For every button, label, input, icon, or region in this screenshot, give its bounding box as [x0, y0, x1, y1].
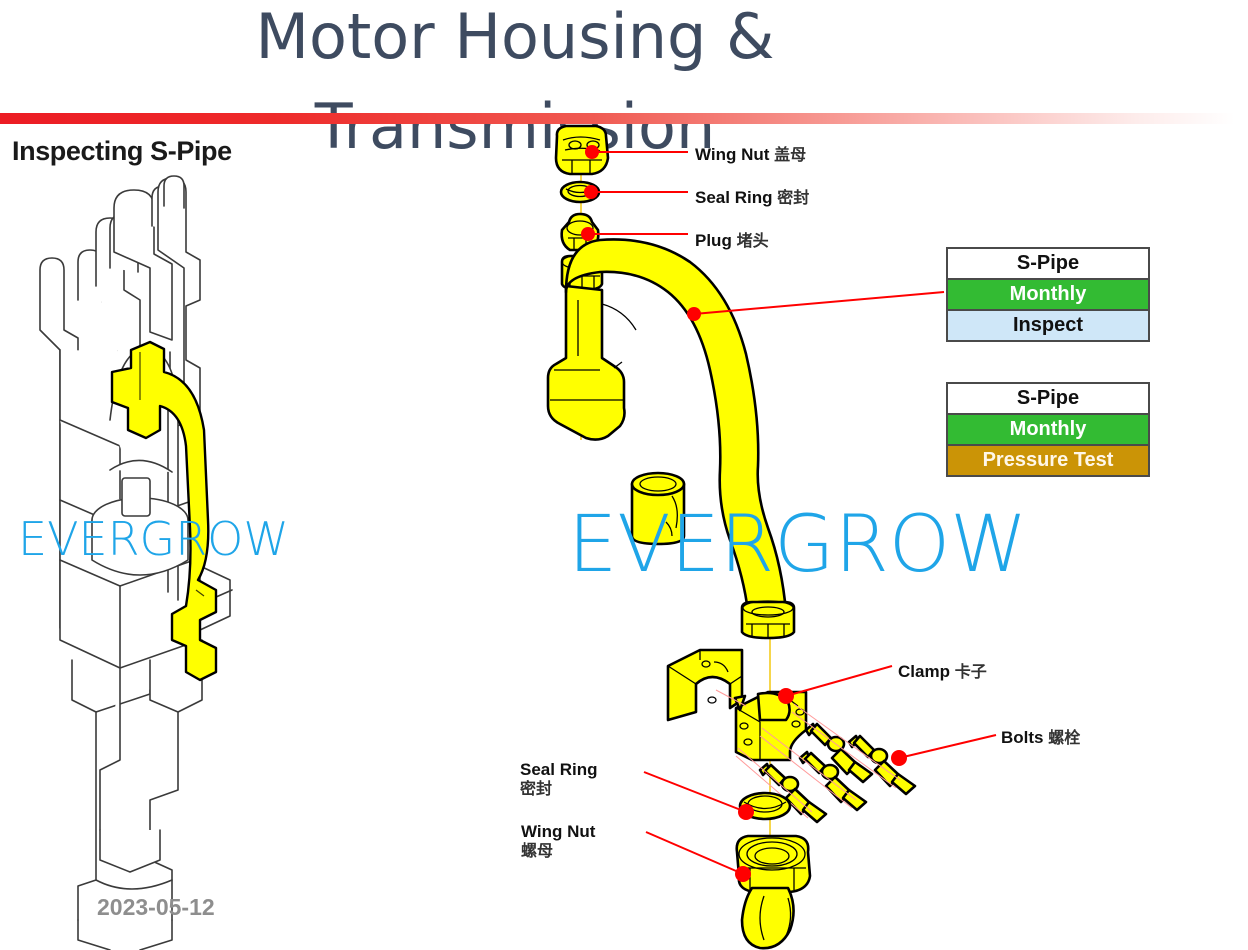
- callout-label-cn: 堵头: [737, 231, 769, 250]
- callout-bolts: Bolts 螺栓: [1001, 727, 1080, 748]
- part-wing-nut-bottom: [737, 836, 810, 948]
- callout-label-en: Clamp: [898, 662, 950, 681]
- callout-label-cn: 螺母: [521, 842, 595, 860]
- card-frequency: Monthly: [948, 415, 1148, 446]
- callout-label-cn: 螺栓: [1048, 728, 1080, 747]
- callout-seal-ring-bottom: Seal Ring 密封: [520, 760, 597, 798]
- callout-label-en: Seal Ring: [520, 760, 597, 779]
- callout-label-cn: 密封: [520, 780, 597, 798]
- card-frequency: Monthly: [948, 280, 1148, 311]
- callout-plug: Plug 堵头: [695, 230, 769, 251]
- maintenance-card-inspect: S-Pipe Monthly Inspect: [946, 247, 1150, 342]
- maintenance-card-pressure-test: S-Pipe Monthly Pressure Test: [946, 382, 1150, 477]
- callout-label-cn: 卡子: [955, 662, 987, 681]
- part-clamp-lower: [736, 692, 806, 760]
- part-sleeve: [632, 473, 684, 544]
- callout-label-en: Bolts: [1001, 728, 1044, 747]
- card-title: S-Pipe: [948, 384, 1148, 415]
- date-stamp: 2023-05-12: [97, 894, 215, 921]
- callout-label-cn: 密封: [777, 188, 809, 207]
- card-action: Inspect: [948, 311, 1148, 340]
- callout-label-en: Wing Nut: [521, 822, 595, 841]
- part-clamp-upper: [668, 650, 742, 720]
- section-subtitle: Inspecting S-Pipe: [12, 136, 232, 167]
- callout-label-en: Plug: [695, 231, 732, 250]
- callout-clamp: Clamp 卡子: [898, 661, 987, 682]
- callout-label-cn: 盖母: [774, 145, 806, 164]
- callout-seal-ring-top: Seal Ring 密封: [695, 187, 809, 208]
- card-action: Pressure Test: [948, 446, 1148, 475]
- callout-wing-nut-bottom: Wing Nut 螺母: [521, 822, 595, 860]
- callout-label-en: Wing Nut: [695, 145, 769, 164]
- part-s-pipe: [548, 239, 794, 638]
- callout-wing-nut-top: Wing Nut 盖母: [695, 144, 806, 165]
- card-title: S-Pipe: [948, 249, 1148, 280]
- part-wing-nut-top: [556, 126, 608, 174]
- callout-label-en: Seal Ring: [695, 188, 772, 207]
